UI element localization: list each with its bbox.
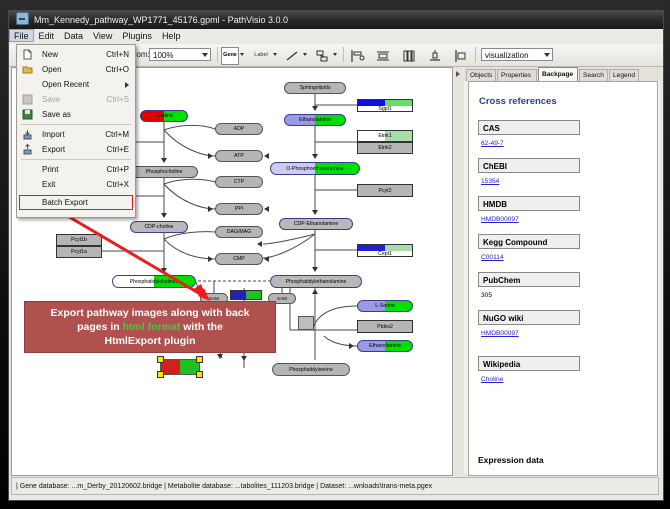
node-cdp-ethanolamine[interactable]: CDP-Ethanolamine: [279, 218, 353, 230]
label-dropdown-icon[interactable]: [273, 53, 277, 56]
node-ethanolamine[interactable]: Ethanolamine: [284, 114, 346, 126]
annotation-line-2-post: with the: [180, 321, 223, 333]
tab-search[interactable]: Search: [579, 69, 608, 81]
visualization-value: visualization: [485, 51, 529, 60]
arrowhead: [312, 210, 318, 215]
chevron-right-icon[interactable]: [456, 71, 460, 77]
node-l-serine[interactable]: L-Serine: [357, 300, 413, 312]
align-bottom-icon[interactable]: [452, 47, 470, 65]
backpage-content: Cross references CAS 62-49-7 ChEBI 15354…: [468, 81, 658, 476]
xref-label-wikipedia: Wikipedia: [478, 356, 580, 371]
menu-item-open[interactable]: OpenCtrl+O: [17, 62, 135, 77]
pathvisio-icon: [16, 12, 29, 25]
node-phosphatidylserine[interactable]: Phosphatidylserine: [272, 363, 350, 376]
menu-item-exit[interactable]: ExitCtrl+X: [17, 177, 135, 192]
node-phosphocholine[interactable]: Phosphocholine: [130, 166, 198, 178]
annotation-line-3: HtmlExport plugin: [25, 334, 275, 348]
menu-plugins[interactable]: Plugins: [117, 29, 157, 41]
menu-item-new[interactable]: NewCtrl+N: [17, 47, 135, 62]
batch-export-highlight: [19, 195, 133, 210]
save-icon: [22, 94, 33, 105]
align-middle-icon[interactable]: [426, 47, 444, 65]
annotation-line-2-pre: pages in: [77, 321, 123, 333]
arrowhead: [161, 158, 167, 163]
selected-node[interactable]: [160, 359, 200, 375]
expression-strip: [230, 290, 262, 300]
export-icon: [22, 144, 33, 155]
menu-item-save: SaveCtrl+S: [17, 92, 135, 107]
line-tool-icon[interactable]: [283, 47, 301, 65]
node-o-phosphoethanolamine[interactable]: O-Phosphoethanolamine: [270, 162, 360, 175]
node-ptdss2[interactable]: Ptdss2: [357, 320, 413, 333]
window-frame: Mm_Kennedy_pathway_WP1771_45176.gpml - P…: [0, 0, 670, 509]
chevron-down-icon: [544, 53, 550, 57]
side-panel-tabs: Objects Properties Backpage Search Legen…: [464, 67, 660, 81]
panel-splitter[interactable]: [455, 67, 463, 474]
xref-value-wikipedia[interactable]: Choline: [481, 376, 503, 383]
tab-properties[interactable]: Properties: [497, 69, 537, 81]
selection-handle[interactable]: [196, 371, 203, 378]
node-pcyt2[interactable]: Pcyt2: [357, 184, 413, 197]
datanode-tool-icon[interactable]: Gene: [221, 47, 239, 65]
node-cept1[interactable]: Cept1: [357, 244, 413, 257]
anchor-box[interactable]: [298, 316, 314, 330]
arrowhead: [349, 343, 354, 349]
menu-item-print[interactable]: PrintCtrl+P: [17, 162, 135, 177]
node-etnk2[interactable]: Etnk2: [357, 142, 413, 154]
xref-value-kegg-compound[interactable]: C00114: [481, 254, 504, 261]
menu-item-open-recent[interactable]: Open Recent: [17, 77, 135, 92]
shape-dropdown-icon[interactable]: [333, 53, 337, 56]
xref-value-chebi[interactable]: 15354: [481, 178, 499, 185]
red-pointer-arrow: [52, 206, 232, 311]
save-as-icon: [22, 109, 33, 120]
arrowhead: [241, 356, 247, 361]
line-dropdown-icon[interactable]: [303, 53, 307, 56]
new-file-icon: [22, 49, 33, 60]
menu-data[interactable]: Data: [59, 29, 88, 41]
align-top-icon[interactable]: [348, 47, 366, 65]
node-atp[interactable]: ATP: [215, 150, 263, 162]
arrowhead: [264, 153, 269, 159]
annotation-highlight: html format: [123, 321, 181, 333]
xref-label-chebi: ChEBI: [478, 158, 580, 173]
menu-view[interactable]: View: [88, 29, 117, 41]
node-ctp[interactable]: CTP: [215, 176, 263, 188]
cross-references-heading: Cross references: [479, 96, 557, 107]
menu-item-save-as[interactable]: Save as: [17, 107, 135, 122]
tab-objects[interactable]: Objects: [466, 69, 496, 81]
menu-file[interactable]: File: [9, 29, 34, 42]
status-bar: | Gene database: ...m_Derby_20120602.bri…: [11, 477, 659, 495]
xref-value-pubchem: 305: [481, 292, 492, 299]
arrowhead: [312, 154, 318, 159]
visualization-combobox[interactable]: visualization: [481, 48, 553, 61]
selection-handle[interactable]: [196, 356, 203, 363]
node-adp[interactable]: ADP: [215, 123, 263, 135]
node-choline[interactable]: Choline: [140, 110, 188, 122]
node-etnk1[interactable]: Etnk1: [357, 130, 413, 142]
arrowhead: [264, 206, 269, 212]
xref-label-cas: CAS: [478, 120, 580, 135]
tab-backpage[interactable]: Backpage: [538, 67, 578, 81]
xref-value-cas[interactable]: 62-49-7: [481, 140, 504, 147]
align-center-icon[interactable]: [400, 47, 418, 65]
arrowhead: [312, 267, 318, 272]
zoom-value: 100%: [153, 51, 173, 60]
menu-bar: FileEditDataViewPluginsHelp: [9, 29, 663, 45]
title-bar: Mm_Kennedy_pathway_WP1771_45176.gpml - P…: [9, 11, 663, 29]
node-sphingolipids[interactable]: Sphingolipids: [284, 82, 346, 94]
chevron-down-icon: [202, 53, 208, 57]
annotation-line-2: pages in html format with the: [25, 320, 275, 334]
side-panel: Objects Properties Backpage Search Legen…: [464, 67, 660, 474]
chevron-right-icon: [125, 82, 129, 88]
xref-label-pubchem: PubChem: [478, 272, 580, 287]
window-title: Mm_Kennedy_pathway_WP1771_45176.gpml - P…: [34, 15, 288, 25]
arrowhead: [312, 289, 318, 294]
xref-label-hmdb: HMDB: [478, 196, 580, 211]
node-sgpl1[interactable]: Sgpl1: [357, 99, 413, 112]
import-icon: [22, 129, 33, 140]
zoom-combobox[interactable]: 100%: [149, 48, 211, 61]
application-window: Mm_Kennedy_pathway_WP1771_45176.gpml - P…: [8, 10, 664, 501]
file-menu-popup: NewCtrl+N OpenCtrl+O Open Recent SaveCtr…: [16, 44, 136, 218]
arrowhead: [312, 106, 318, 111]
xref-value-nugo-wiki[interactable]: HMDB00097: [481, 330, 519, 337]
xref-label-nugo-wiki: NuGO wiki: [478, 310, 580, 325]
label-tool-icon[interactable]: Label: [249, 47, 273, 65]
datanode-dropdown-icon[interactable]: [240, 53, 244, 56]
tab-legend[interactable]: Legend: [609, 69, 639, 81]
xref-label-kegg-compound: Kegg Compound: [478, 234, 580, 249]
menu-item-export[interactable]: ExportCtrl+E: [17, 142, 135, 157]
arrowhead: [217, 354, 223, 359]
arrowhead: [208, 153, 213, 159]
node-ethanolamine-2[interactable]: Ethanolamine: [357, 340, 413, 352]
selection-handle[interactable]: [157, 371, 164, 378]
open-folder-icon: [22, 64, 33, 75]
selection-handle[interactable]: [157, 356, 164, 363]
menu-help[interactable]: Help: [157, 29, 186, 41]
expression-data-heading: Expression data: [478, 455, 544, 465]
menu-edit[interactable]: Edit: [34, 29, 60, 41]
node-phosphatidylethanolamine[interactable]: Phosphatidylethanolamine: [270, 275, 362, 288]
shape-tool-icon[interactable]: [313, 47, 331, 65]
align-left-icon[interactable]: [374, 47, 392, 65]
xref-value-hmdb[interactable]: HMDB00097: [481, 216, 519, 223]
arrowhead: [264, 256, 269, 262]
menu-item-import[interactable]: ImportCtrl+M: [17, 127, 135, 142]
arrowhead: [257, 241, 262, 247]
